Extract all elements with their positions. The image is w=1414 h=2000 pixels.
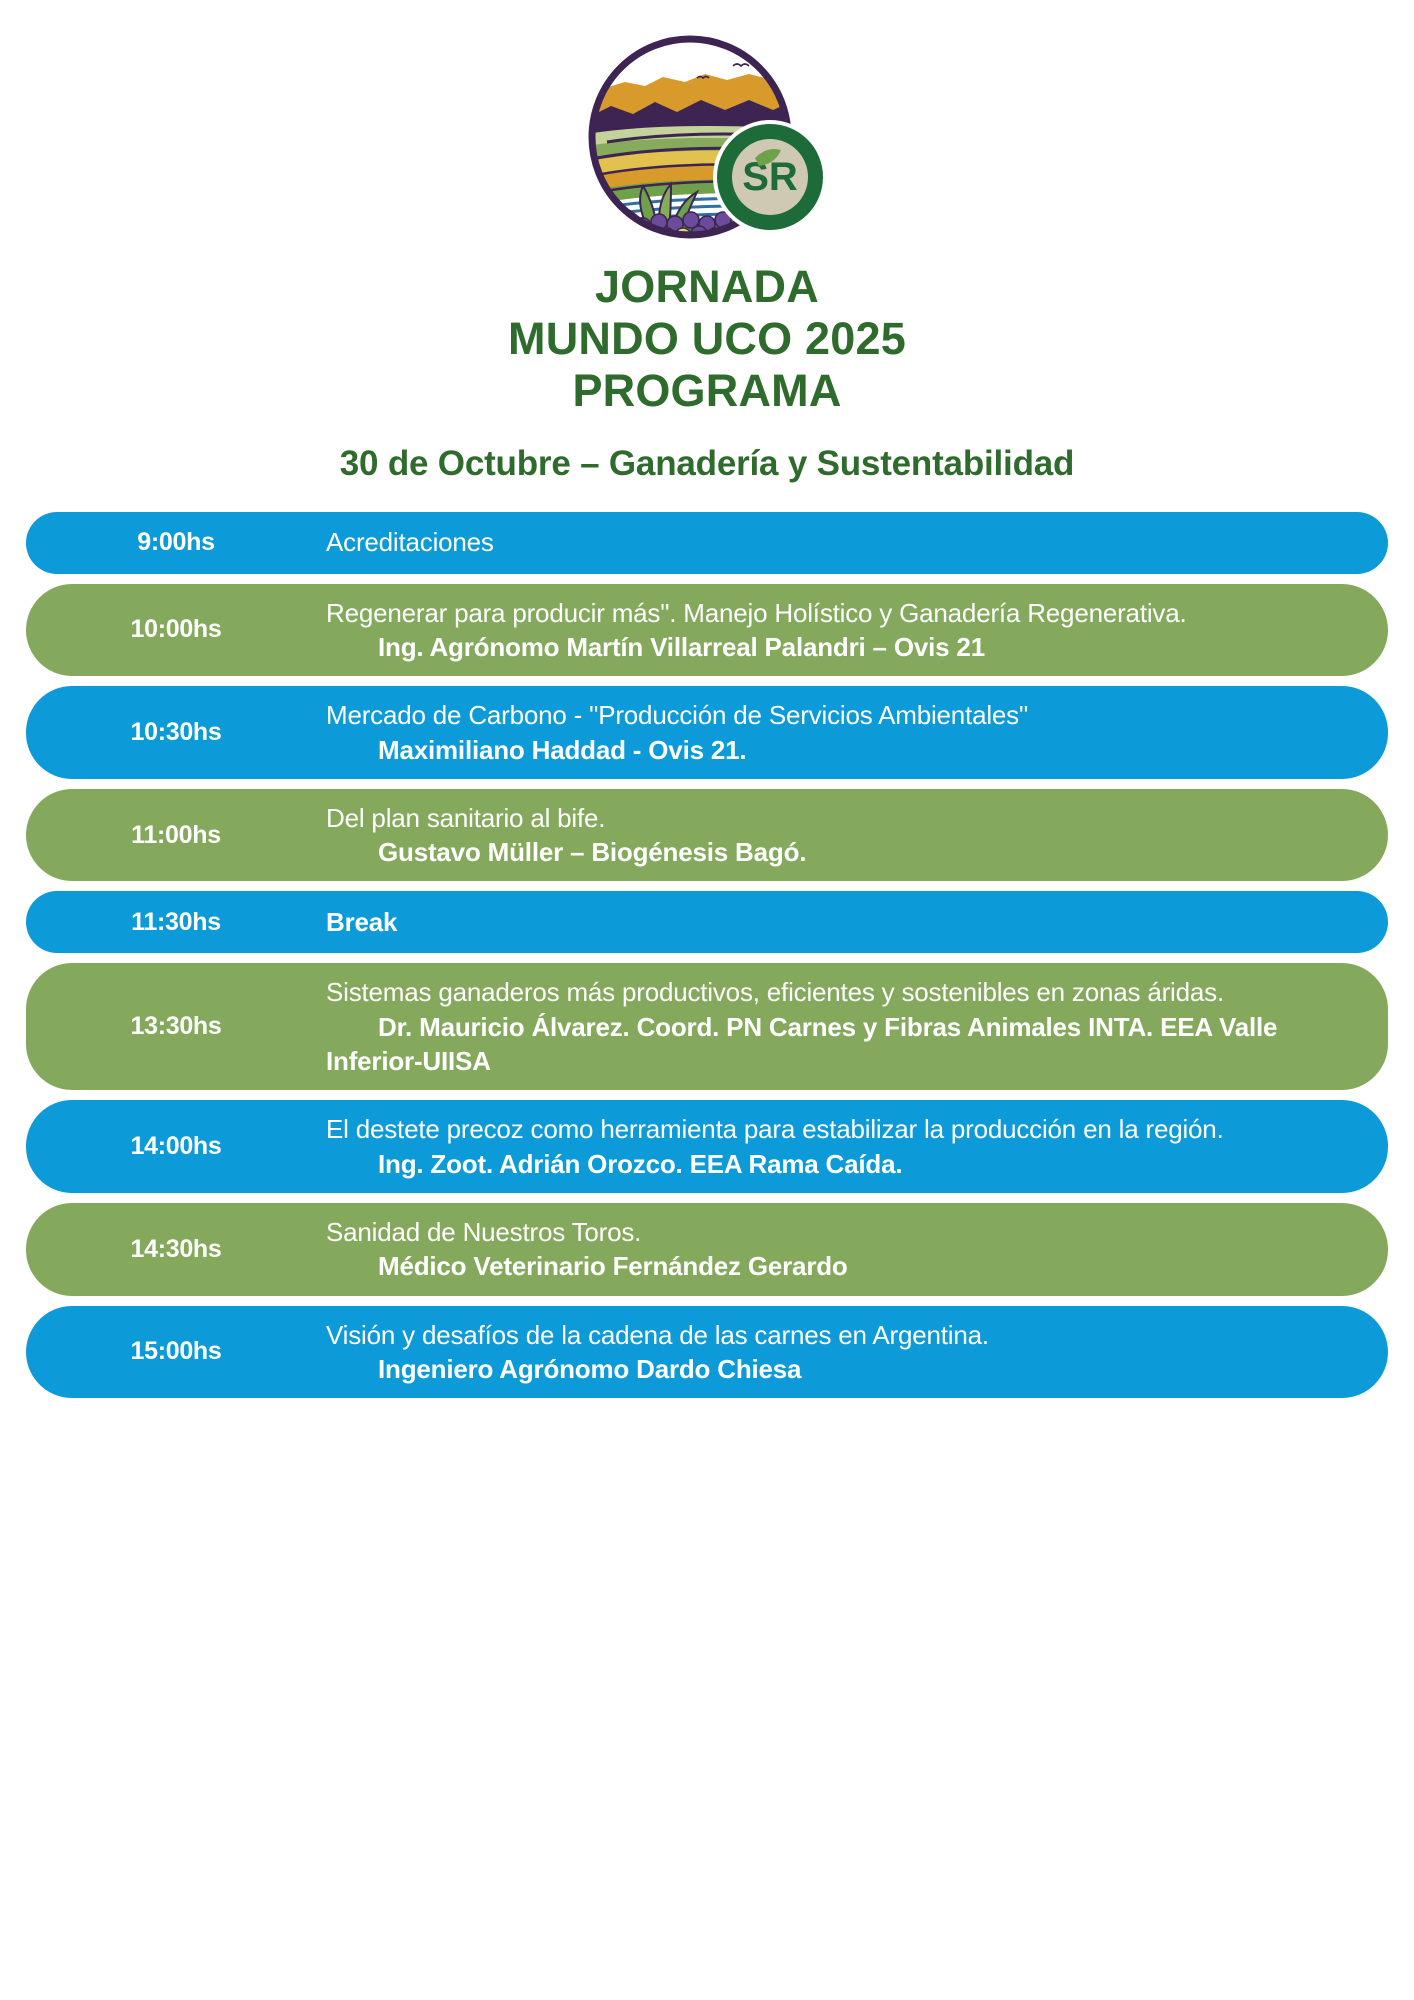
schedule-row: 11:00hsDel plan sanitario al bife.Gustav…: [26, 789, 1388, 882]
schedule-time: 14:00hs: [26, 1132, 326, 1161]
title-line-2: MUNDO UCO 2025: [0, 313, 1414, 365]
program-poster: SR JORNADA MUNDO UCO 2025 PROGRAMA 30 de…: [0, 0, 1414, 2000]
sociedad-rural-logo-icon: SR: [577, 30, 837, 255]
schedule-time: 11:30hs: [26, 908, 326, 937]
schedule-topic: Mercado de Carbono - "Producción de Serv…: [326, 698, 1354, 732]
schedule-row: 15:00hsVisión y desafíos de la cadena de…: [26, 1306, 1388, 1399]
schedule-detail: Acreditaciones: [326, 525, 1364, 559]
schedule-topic: Visión y desafíos de la cadena de las ca…: [326, 1318, 1354, 1352]
schedule-row: 10:00hsRegenerar para producir más". Man…: [26, 584, 1388, 677]
schedule-detail: Break: [326, 905, 1364, 939]
schedule-time: 11:00hs: [26, 821, 326, 850]
schedule-detail: Del plan sanitario al bife.Gustavo Mülle…: [326, 801, 1364, 870]
schedule-time: 10:00hs: [26, 615, 326, 644]
schedule-detail: Sanidad de Nuestros Toros.Médico Veterin…: [326, 1215, 1364, 1284]
schedule-time: 9:00hs: [26, 528, 326, 557]
schedule-speaker: Gustavo Müller – Biogénesis Bagó.: [326, 835, 1354, 869]
schedule-row: 14:00hsEl destete precoz como herramient…: [26, 1100, 1388, 1193]
schedule-row: 11:30hsBreak: [26, 891, 1388, 953]
schedule-time: 14:30hs: [26, 1235, 326, 1264]
schedule-topic: El destete precoz como herramienta para …: [326, 1112, 1354, 1146]
schedule-topic: Break: [326, 905, 1354, 939]
title-line-3: PROGRAMA: [0, 365, 1414, 417]
schedule-speaker: Ing. Agrónomo Martín Villarreal Palandri…: [326, 630, 1354, 664]
page-title: JORNADA MUNDO UCO 2025 PROGRAMA: [0, 261, 1414, 418]
schedule-detail: Regenerar para producir más". Manejo Hol…: [326, 596, 1364, 665]
schedule-row: 14:30hsSanidad de Nuestros Toros.Médico …: [26, 1203, 1388, 1296]
schedule-detail: El destete precoz como herramienta para …: [326, 1112, 1364, 1181]
schedule-list: 9:00hsAcreditaciones10:00hsRegenerar par…: [0, 512, 1414, 1399]
schedule-topic: Sistemas ganaderos más productivos, efic…: [326, 975, 1354, 1009]
schedule-topic: Acreditaciones: [326, 525, 1354, 559]
schedule-topic: Del plan sanitario al bife.: [326, 801, 1354, 835]
schedule-speaker: Ingeniero Agrónomo Dardo Chiesa: [326, 1352, 1354, 1386]
schedule-detail: Visión y desafíos de la cadena de las ca…: [326, 1318, 1364, 1387]
schedule-time: 13:30hs: [26, 1012, 326, 1041]
schedule-topic: Regenerar para producir más". Manejo Hol…: [326, 596, 1354, 630]
schedule-speaker: Dr. Mauricio Álvarez. Coord. PN Carnes y…: [326, 1010, 1354, 1079]
title-line-1: JORNADA: [0, 261, 1414, 313]
schedule-time: 10:30hs: [26, 718, 326, 747]
schedule-row: 13:30hsSistemas ganaderos más productivo…: [26, 963, 1388, 1090]
schedule-detail: Sistemas ganaderos más productivos, efic…: [326, 975, 1364, 1078]
schedule-row: 9:00hsAcreditaciones: [26, 512, 1388, 574]
schedule-topic: Sanidad de Nuestros Toros.: [326, 1215, 1354, 1249]
schedule-speaker: Médico Veterinario Fernández Gerardo: [326, 1249, 1354, 1283]
logo-container: SR: [0, 0, 1414, 255]
schedule-speaker: Maximiliano Haddad - Ovis 21.: [326, 733, 1354, 767]
schedule-detail: Mercado de Carbono - "Producción de Serv…: [326, 698, 1364, 767]
schedule-speaker: Ing. Zoot. Adrián Orozco. EEA Rama Caída…: [326, 1147, 1354, 1181]
schedule-row: 10:30hsMercado de Carbono - "Producción …: [26, 686, 1388, 779]
program-subtitle: 30 de Octubre – Ganadería y Sustentabili…: [0, 444, 1414, 484]
schedule-time: 15:00hs: [26, 1337, 326, 1366]
